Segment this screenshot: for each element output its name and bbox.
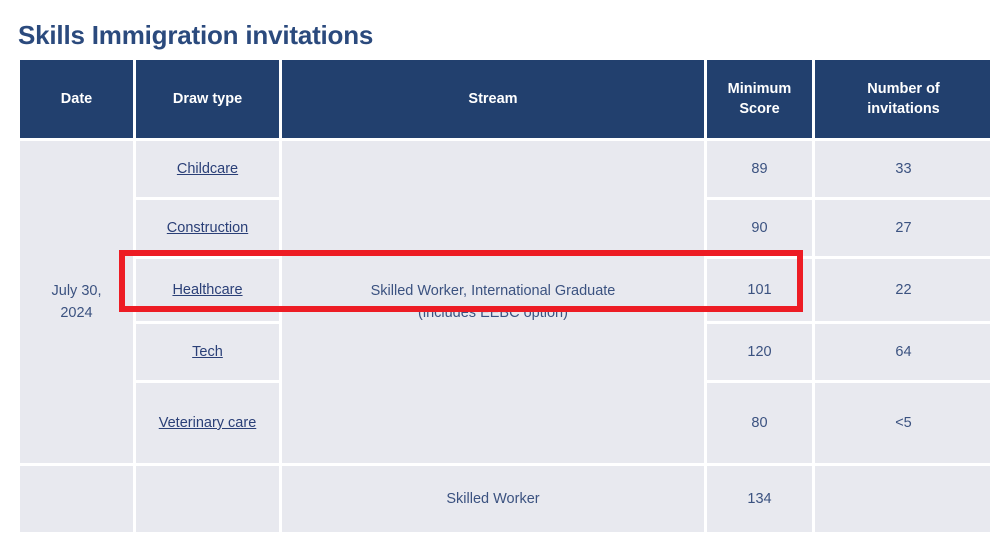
- draw-type-link-tech[interactable]: Tech: [192, 344, 223, 360]
- stream-cell-skilled-worker-international-graduate: Skilled Worker, International Graduate (…: [282, 141, 704, 463]
- draw-type-cell-childcare: Childcare: [136, 141, 279, 197]
- table-body: July 30, 2024 Childcare Skilled Worker, …: [20, 141, 990, 532]
- page-title: Skills Immigration invitations: [18, 18, 373, 52]
- column-header-date: Date: [20, 60, 133, 138]
- column-header-draw-type: Draw type: [136, 60, 279, 138]
- table-row-partial: Skilled Worker 134: [20, 466, 990, 532]
- minimum-score-cell: 134: [707, 466, 812, 532]
- draw-type-link-veterinary-care[interactable]: Veterinary care: [159, 415, 257, 431]
- column-header-number-of-invitations: Number of invitations: [815, 60, 990, 138]
- invitations-line-1: Number of: [867, 81, 940, 97]
- invitations-cell: [815, 466, 990, 532]
- minimum-score-cell: 101: [707, 259, 812, 321]
- column-header-stream: Stream: [282, 60, 704, 138]
- stream-cell-skilled-worker: Skilled Worker: [282, 466, 704, 532]
- invitations-cell: 33: [815, 141, 990, 197]
- stream-line-2: (includes EEBC option): [418, 305, 568, 321]
- column-header-minimum-score: Minimum Score: [707, 60, 812, 138]
- invitations-cell: <5: [815, 383, 990, 463]
- table-header-row: Date Draw type Stream Minimum Score Numb…: [20, 60, 990, 138]
- draw-type-cell-healthcare: Healthcare: [136, 259, 279, 321]
- minimum-score-line-1: Minimum: [728, 81, 792, 97]
- skills-immigration-invitations-table: Date Draw type Stream Minimum Score Numb…: [17, 57, 990, 535]
- invitations-cell: 22: [815, 259, 990, 321]
- draw-type-cell-tech: Tech: [136, 324, 279, 380]
- table-row: July 30, 2024 Childcare Skilled Worker, …: [20, 141, 990, 197]
- date-cell-july-30-2024: July 30, 2024: [20, 141, 133, 463]
- invitations-cell: 64: [815, 324, 990, 380]
- minimum-score-cell: 80: [707, 383, 812, 463]
- draw-type-cell-veterinary-care: Veterinary care: [136, 383, 279, 463]
- minimum-score-cell: 89: [707, 141, 812, 197]
- date-cell-empty: [20, 466, 133, 532]
- draw-type-link-childcare[interactable]: Childcare: [177, 161, 238, 177]
- draw-type-cell-empty: [136, 466, 279, 532]
- draw-type-link-healthcare[interactable]: Healthcare: [172, 282, 242, 298]
- invitations-line-2: invitations: [867, 101, 940, 117]
- draw-type-link-construction[interactable]: Construction: [167, 220, 248, 236]
- stream-line-1: Skilled Worker, International Graduate: [371, 283, 616, 299]
- minimum-score-cell: 120: [707, 324, 812, 380]
- invitations-table-container: Date Draw type Stream Minimum Score Numb…: [20, 60, 980, 532]
- table-header: Date Draw type Stream Minimum Score Numb…: [20, 60, 990, 138]
- date-line-2: 2024: [60, 305, 92, 321]
- draw-type-cell-construction: Construction: [136, 200, 279, 256]
- date-line-1: July 30,: [52, 283, 102, 299]
- minimum-score-line-2: Score: [739, 101, 779, 117]
- minimum-score-cell: 90: [707, 200, 812, 256]
- invitations-cell: 27: [815, 200, 990, 256]
